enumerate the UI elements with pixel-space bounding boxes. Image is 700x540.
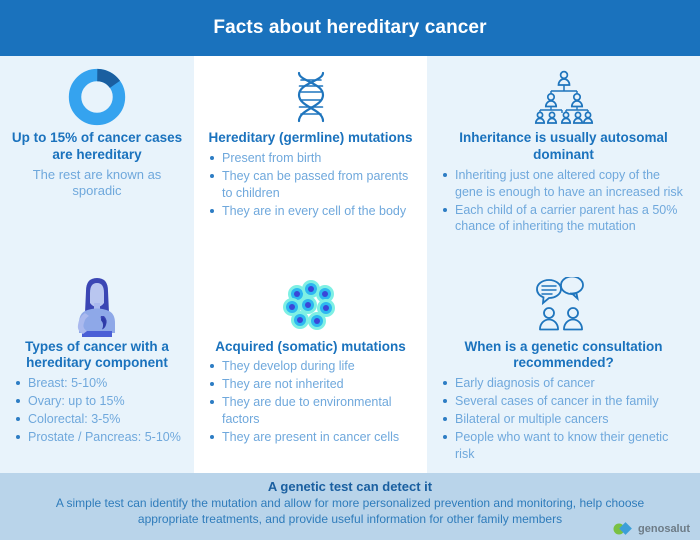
list-item: People who want to know their genetic ri… (441, 429, 690, 463)
header-bar: Facts about hereditary cancer (0, 0, 700, 56)
panel-bullet-list: Inheriting just one altered copy of the … (435, 167, 692, 237)
list-item: They are present in cancer cells (208, 429, 417, 446)
family-tree-svg (526, 69, 602, 125)
panel-title: Up to 15% of cancer cases are hereditary (8, 130, 186, 164)
list-item: Present from birth (208, 150, 417, 167)
dna-helix-icon (202, 66, 419, 128)
list-item: They are due to environmental factors (208, 394, 417, 428)
list-item: Bilateral or multiple cancers (441, 411, 690, 428)
logo-mark-icon (612, 522, 634, 536)
panel-bullet-list: Early diagnosis of cancer Several cases … (435, 375, 692, 463)
panel-title: Inheritance is usually autosomal dominan… (435, 130, 692, 164)
panel-subtitle: The rest are known as sporadic (8, 167, 186, 200)
woman-ribbon-icon (8, 275, 186, 337)
panel-title: Acquired (somatic) mutations (202, 339, 419, 356)
panel-germline-mutations: Hereditary (germline) mutations Present … (194, 56, 427, 265)
consultation-svg (527, 277, 601, 335)
donut-chart-icon (8, 66, 186, 128)
dna-helix-svg (285, 69, 337, 125)
panel-hereditary-share: Up to 15% of cancer cases are hereditary… (0, 56, 194, 265)
panel-genetic-consultation: When is a genetic consultation recommend… (427, 265, 700, 474)
cancer-cells-svg (280, 278, 342, 334)
list-item: They are in every cell of the body (208, 203, 417, 220)
list-item: Breast: 5-10% (14, 375, 184, 392)
panel-bullet-list: Present from birth They can be passed fr… (202, 150, 419, 221)
panel-somatic-mutations: Acquired (somatic) mutations They develo… (194, 265, 427, 474)
panel-grid: Up to 15% of cancer cases are hereditary… (0, 56, 700, 473)
list-item: They can be passed from parents to child… (208, 168, 417, 202)
list-item: Colorectal: 3-5% (14, 411, 184, 428)
panel-cancer-types: Types of cancer with a hereditary compon… (0, 265, 194, 474)
panel-bullet-list: Breast: 5-10% Ovary: up to 15% Colorecta… (8, 375, 186, 447)
consultation-icon (435, 275, 692, 337)
logo-text: genosalut (638, 523, 690, 535)
brand-logo: genosalut (612, 522, 690, 536)
panel-bullet-list: They develop during life They are not in… (202, 358, 419, 446)
panel-autosomal-dominant: Inheritance is usually autosomal dominan… (427, 56, 700, 265)
footer-title: A genetic test can detect it (268, 479, 432, 494)
footer-bar: A genetic test can detect it A simple te… (0, 473, 700, 540)
list-item: They are not inherited (208, 376, 417, 393)
page-title: Facts about hereditary cancer (213, 17, 486, 39)
list-item: Early diagnosis of cancer (441, 375, 690, 392)
panel-title: Types of cancer with a hereditary compon… (8, 339, 186, 373)
list-item: They develop during life (208, 358, 417, 375)
list-item: Several cases of cancer in the family (441, 393, 690, 410)
panel-title: When is a genetic consultation recommend… (435, 339, 692, 373)
family-tree-icon (435, 66, 692, 128)
list-item: Each child of a carrier parent has a 50%… (441, 202, 690, 236)
list-item: Inheriting just one altered copy of the … (441, 167, 690, 201)
cancer-cells-icon (202, 275, 419, 337)
list-item: Prostate / Pancreas: 5-10% (14, 429, 184, 446)
footer-text: A simple test can identify the mutation … (30, 496, 670, 527)
list-item: Ovary: up to 15% (14, 393, 184, 410)
donut-chart-svg (68, 68, 126, 126)
panel-title: Hereditary (germline) mutations (202, 130, 419, 147)
woman-ribbon-svg (68, 275, 126, 337)
infographic-root: Facts about hereditary cancer Up to 15% … (0, 0, 700, 540)
